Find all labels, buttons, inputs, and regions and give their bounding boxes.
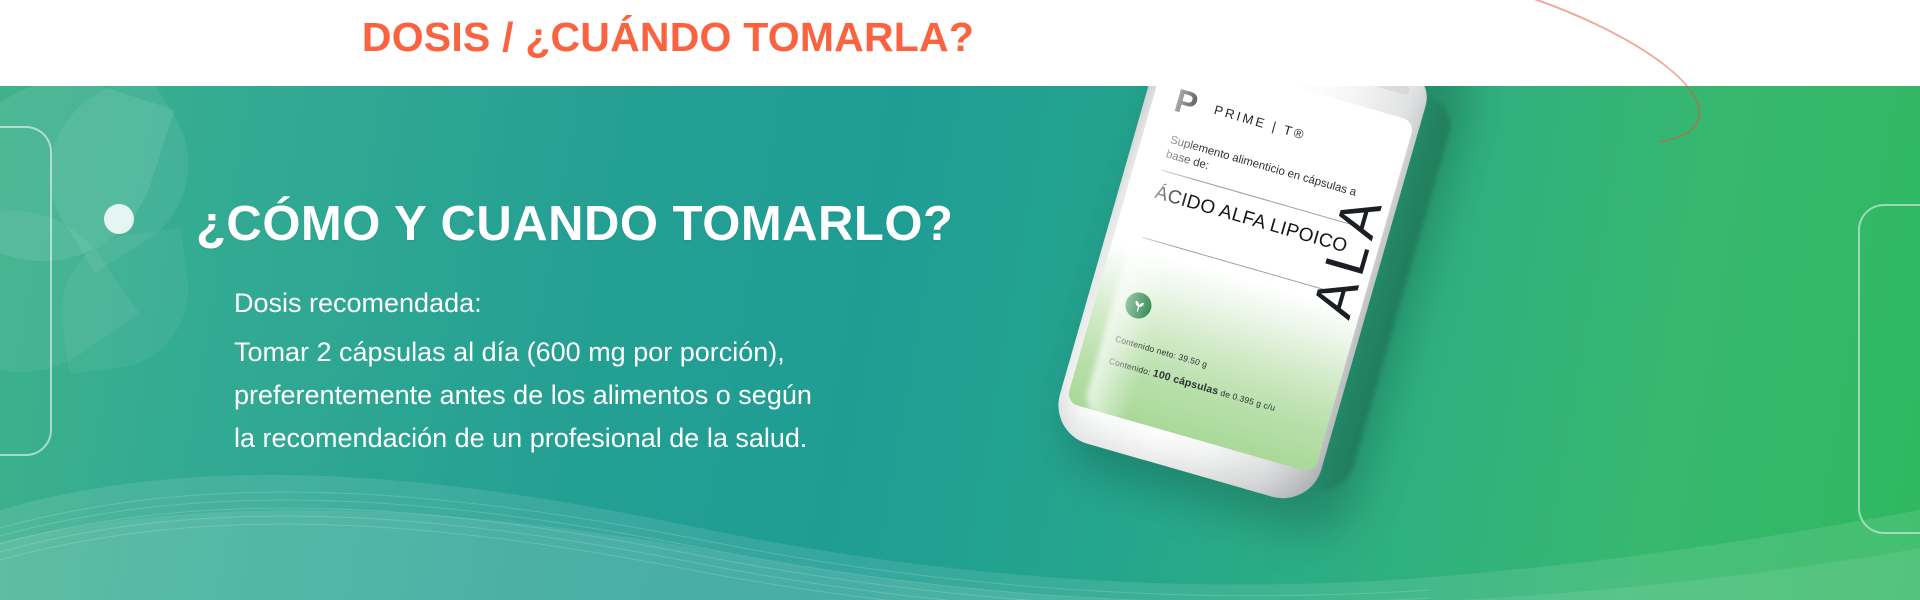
bracket-decoration-right: [1858, 204, 1920, 534]
section-title: DOSIS / ¿CUÁNDO TOMARLA?: [0, 14, 1336, 61]
page-heading: ¿CÓMO Y CUANDO TOMARLO?: [196, 196, 953, 252]
dosage-line: Dosis recomendada:: [234, 282, 812, 325]
capsule-count-value: 100 cápsulas: [1151, 367, 1219, 397]
dot-decoration-icon: [104, 204, 134, 234]
product-banner: DOSIS / ¿CUÁNDO TOMARLA? ¿CÓMO Y CUANDO …: [0, 0, 1920, 600]
bracket-decoration-left: [0, 126, 52, 456]
dosage-line: la recomendación de un profesional de la…: [234, 417, 812, 460]
dosage-line: Tomar 2 cápsulas al día (600 mg por porc…: [234, 331, 812, 374]
green-content-panel: ¿CÓMO Y CUANDO TOMARLO? Dosis recomendad…: [0, 86, 1920, 600]
dosage-line: preferentemente antes de los alimentos o…: [234, 374, 812, 417]
brand-name: PRIME | T®: [1212, 102, 1308, 143]
dosage-text-block: Dosis recomendada: Tomar 2 cápsulas al d…: [234, 282, 812, 460]
capsule-count-suffix: de 0.395 g c/u: [1219, 388, 1276, 413]
